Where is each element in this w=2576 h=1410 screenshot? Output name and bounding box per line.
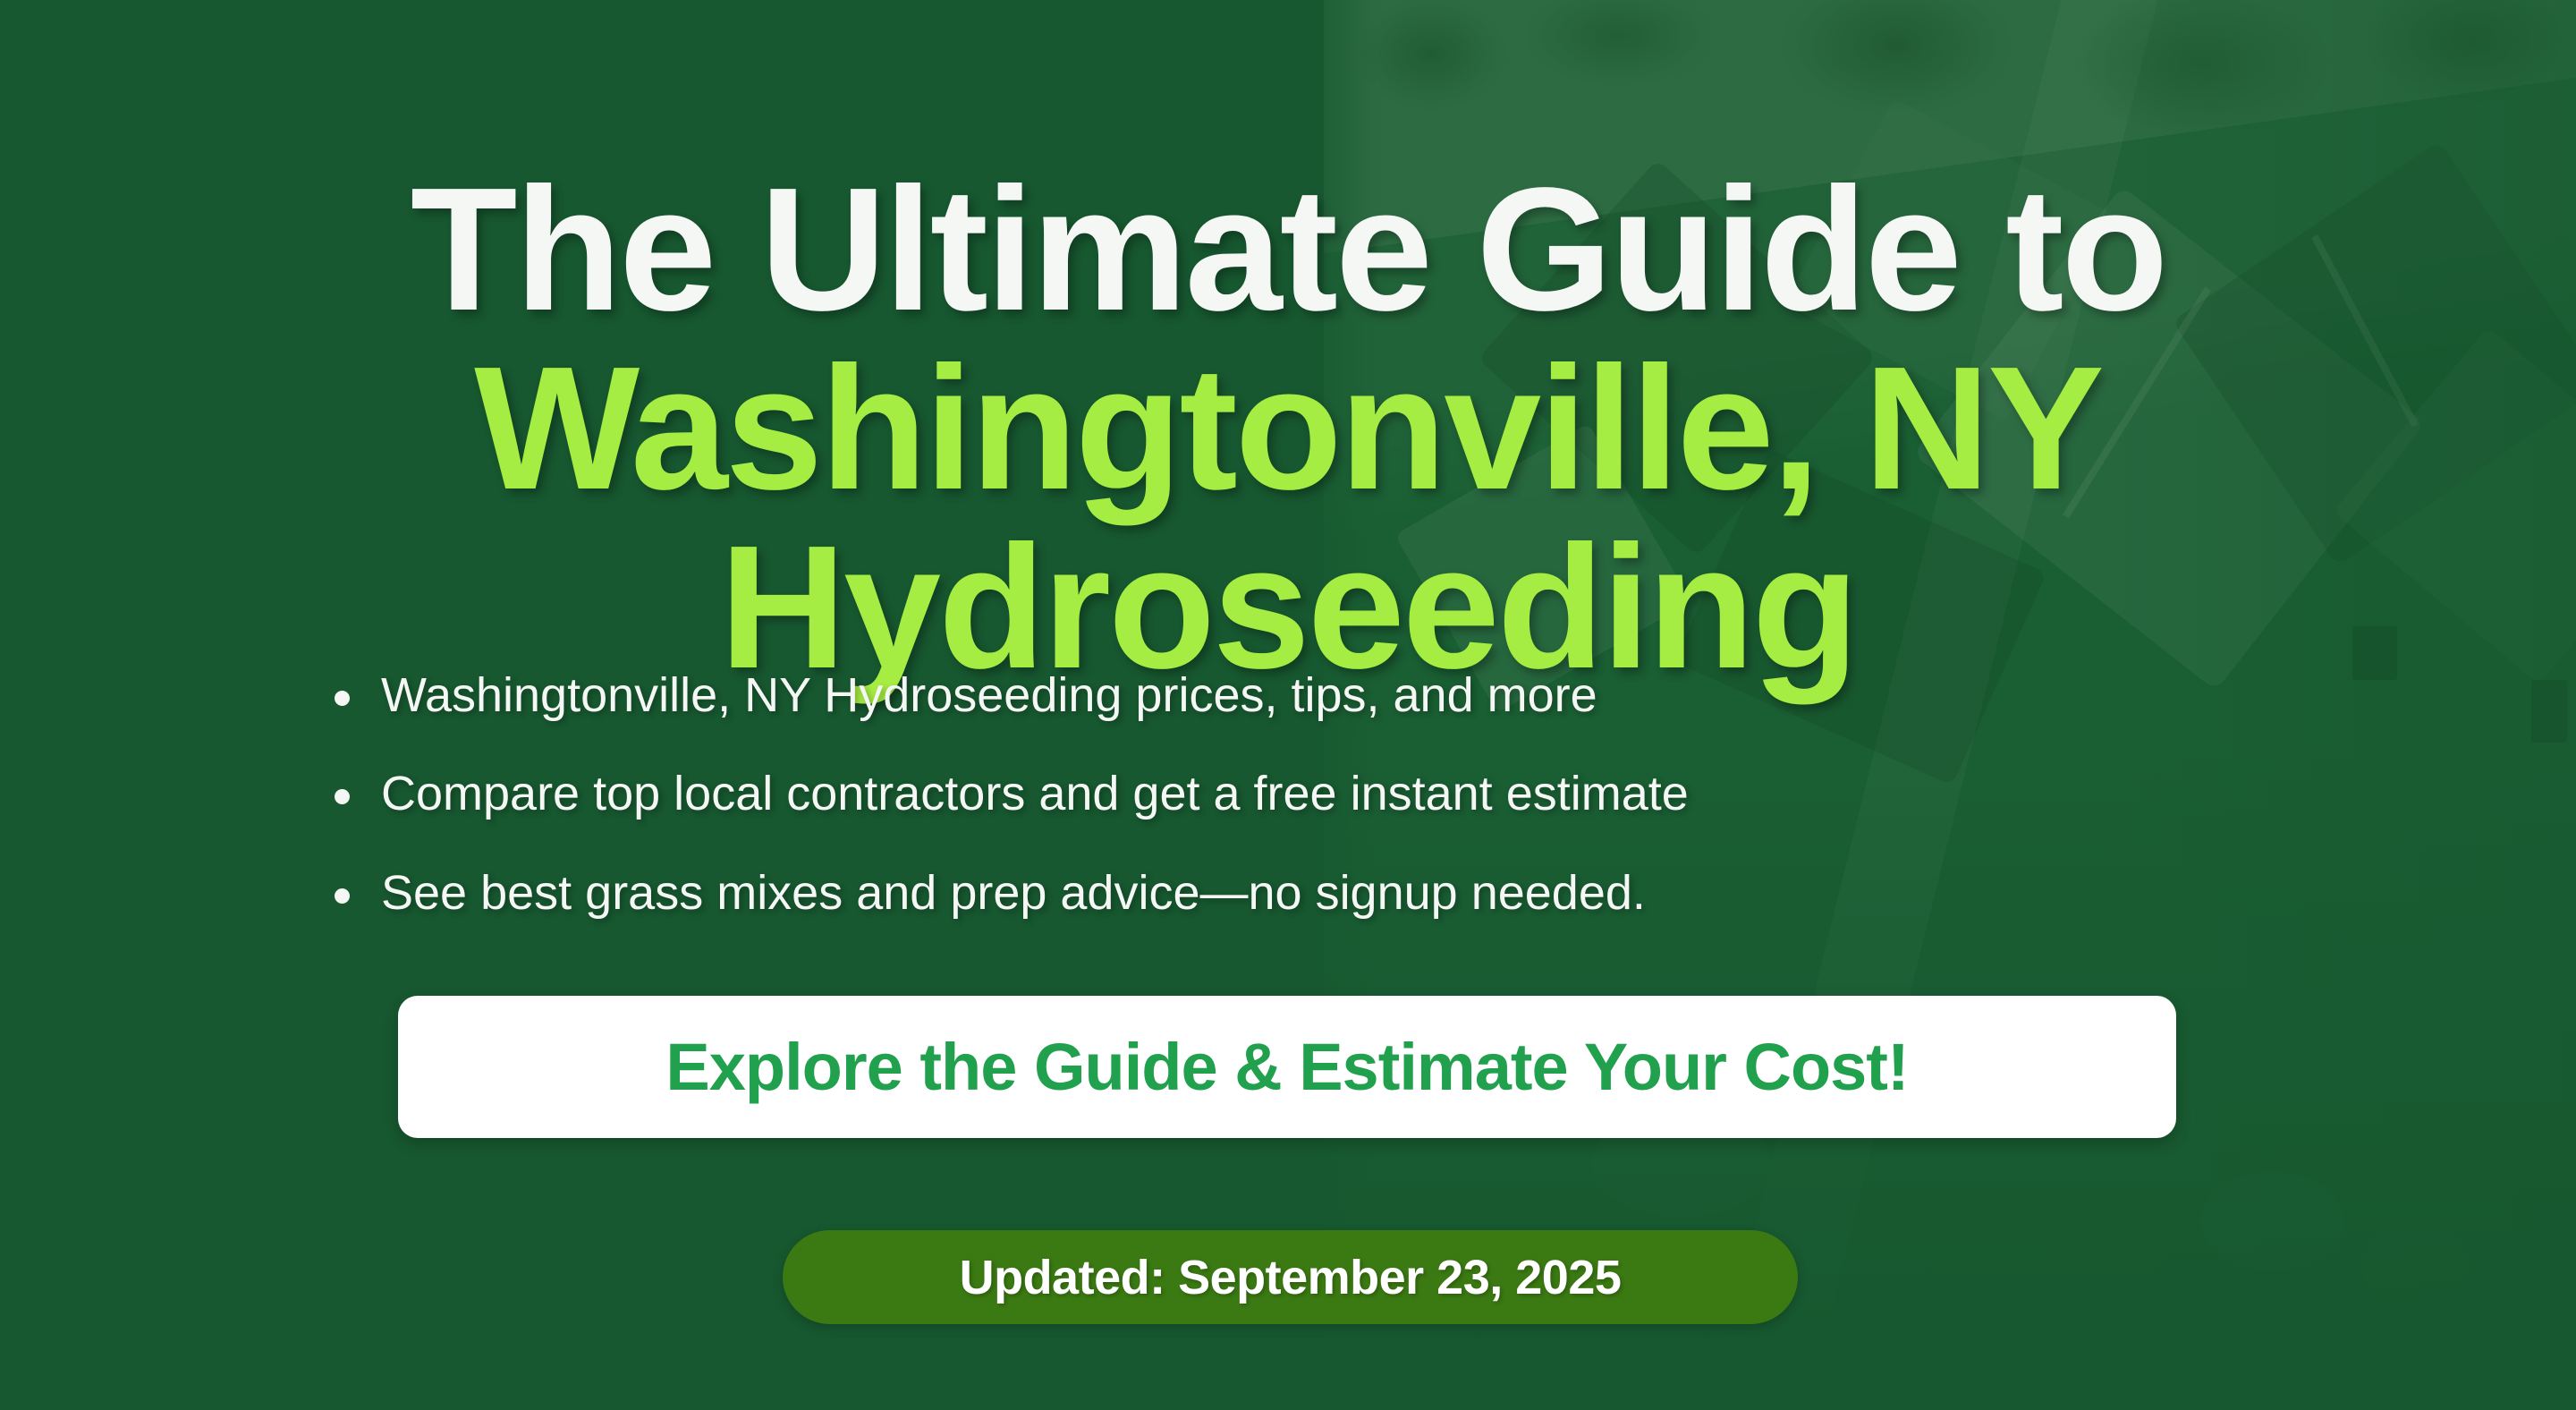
hero-banner: The Ultimate Guide to Washingtonville, N… (0, 0, 2576, 1410)
updated-date-label: Updated: September 23, 2025 (960, 1250, 1622, 1305)
list-item: Washingtonville, NY Hydroseeding prices,… (322, 669, 2290, 721)
feature-bullet-list: Washingtonville, NY Hydroseeding prices,… (322, 669, 2290, 965)
headline-line-1: The Ultimate Guide to (152, 160, 2424, 339)
list-item: Compare top local contractors and get a … (322, 768, 2290, 820)
updated-date-badge: Updated: September 23, 2025 (783, 1230, 1798, 1324)
list-item: See best grass mixes and prep advice—no … (322, 867, 2290, 919)
cta-label: Explore the Guide & Estimate Your Cost! (665, 1029, 1908, 1105)
hero-content: The Ultimate Guide to Washingtonville, N… (0, 0, 2576, 1410)
explore-guide-cta-button[interactable]: Explore the Guide & Estimate Your Cost! (398, 996, 2176, 1138)
headline-line-2: Washingtonville, NY (152, 339, 2424, 518)
page-title: The Ultimate Guide to Washingtonville, N… (0, 160, 2576, 697)
